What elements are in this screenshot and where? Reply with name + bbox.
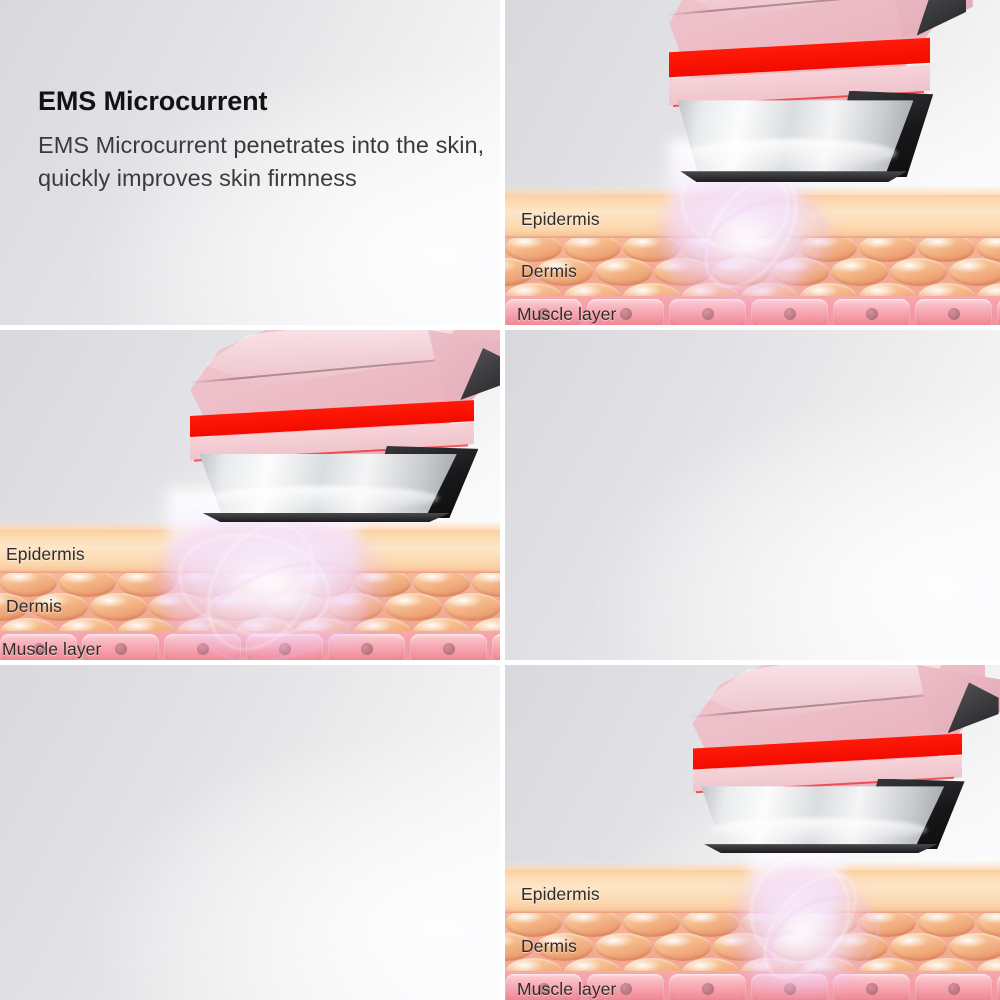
muscle-cell [915,299,992,325]
dermis-cell [890,933,947,961]
dermis-cell [713,258,770,286]
panel-background [505,330,1000,660]
skin-label-epidermis: Epidermis [521,884,600,905]
beauty-device [140,330,500,522]
dermis-cell [149,593,206,621]
dermis-cell-row [505,933,987,961]
muscle-nucleus [620,983,632,995]
panel-ems-microcurrent-text: EMS Microcurrent EMS Microcurrent penetr… [0,0,500,325]
muscle-cell [833,974,910,1000]
dermis-cell [326,593,383,621]
product-feature-infographic: EMS Microcurrent EMS Microcurrent penetr… [0,0,1000,1000]
feature-title-ems: EMS Microcurrent [38,86,498,116]
muscle-nucleus [784,983,796,995]
panel-ems-microcurrent-image: Epidermis Dermis Muscle layer [505,0,1000,325]
muscle-nucleus [620,308,632,320]
dermis-cell [267,593,324,621]
panel-high-frequency-vibration-text: High Frequency Vibration Relax facial mu… [505,330,1000,660]
skin-label-muscle: Muscle layer [517,979,616,1000]
feature-text-block-ems: EMS Microcurrent EMS Microcurrent penetr… [38,86,498,195]
device-head-gloss [710,818,928,842]
skin-label-epidermis: Epidermis [6,544,85,565]
dermis-cell [831,258,888,286]
panel-high-frequency-vibration-image: Epidermis Dermis Muscle layer [0,330,500,660]
dermis-cell-row [505,258,987,286]
muscle-nucleus [948,983,960,995]
muscle-cell [833,299,910,325]
dermis-cell [654,933,711,961]
muscle-cell [751,299,828,325]
muscle-cell [915,974,992,1000]
muscle-nucleus [866,983,878,995]
skin-label-dermis: Dermis [521,261,577,282]
muscle-cell [669,299,746,325]
muscle-cell [246,634,323,660]
device-head-base [699,844,937,853]
muscle-cell [669,974,746,1000]
dermis-cell [713,933,770,961]
device-head-base [676,171,907,182]
feature-description-ems: EMS Microcurrent penetrates into the ski… [38,129,498,195]
skin-label-muscle: Muscle layer [2,639,101,660]
muscle-cell [751,974,828,1000]
skin-label-epidermis: Epidermis [521,209,600,230]
beauty-device [623,0,953,182]
dermis-cell-row [0,593,487,621]
dermis-cell [949,258,1000,286]
muscle-cell [492,634,500,660]
skin-label-dermis: Dermis [6,596,62,617]
skin-label-muscle: Muscle layer [517,304,616,325]
muscle-cell [328,634,405,660]
dermis-cell [208,593,265,621]
muscle-nucleus [866,308,878,320]
panel-electroporation-text: Electroporation introduction Electrical … [0,665,500,1000]
dermis-cell [772,933,829,961]
dermis-cell [890,258,947,286]
dermis-cell [444,593,500,621]
muscle-nucleus [948,308,960,320]
muscle-nucleus [784,308,796,320]
muscle-nucleus [115,643,127,655]
muscle-nucleus [361,643,373,655]
muscle-nucleus [279,643,291,655]
skin-surface-wash [505,186,1000,195]
muscle-nucleus [443,643,455,655]
muscle-nucleus [702,308,714,320]
muscle-cell [410,634,487,660]
muscle-nucleus [702,983,714,995]
device-head-gloss [208,486,438,510]
skin-surface-wash [0,521,500,530]
beauty-device [645,665,985,853]
panel-background [0,665,500,1000]
dermis-cell [90,593,147,621]
skin-label-dermis: Dermis [521,936,577,957]
dermis-cell [385,593,442,621]
panel-electroporation-image: Epidermis Dermis Muscle layer [505,665,1000,1000]
dermis-cell [949,933,1000,961]
device-head-base [198,513,450,522]
dermis-cell [595,258,652,286]
skin-surface-wash [505,861,1000,870]
device-head-gloss [686,139,897,168]
muscle-cell [164,634,241,660]
muscle-nucleus [197,643,209,655]
dermis-cell [654,258,711,286]
dermis-cell [831,933,888,961]
dermis-cell [772,258,829,286]
dermis-cell [595,933,652,961]
